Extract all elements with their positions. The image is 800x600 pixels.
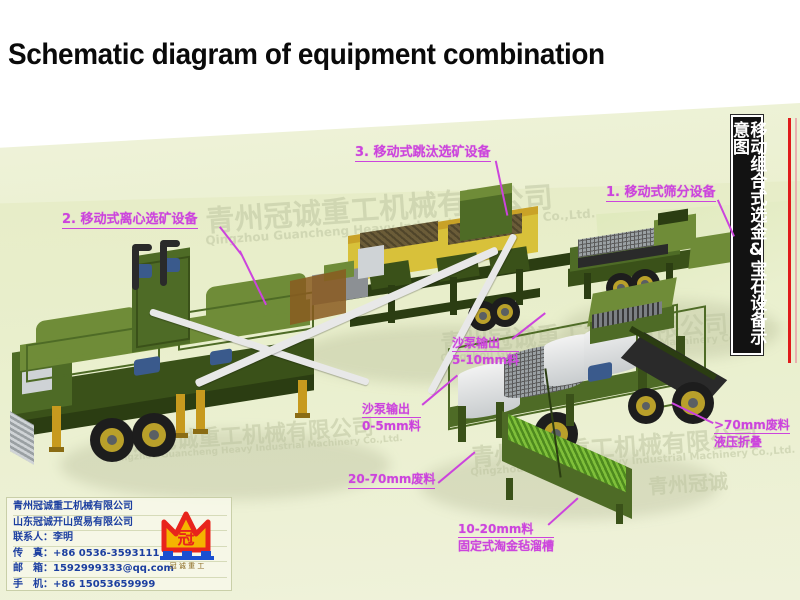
callout-sand-pump-0-5: 沙泵输出 0-5mm料	[362, 402, 421, 433]
banner-red-rule-secondary	[795, 118, 797, 363]
suction-hose-1	[132, 246, 139, 290]
wheel	[90, 418, 134, 462]
suction-hose-2	[160, 242, 167, 286]
wheel	[132, 413, 176, 457]
logo-subtext: 冠 诚 重 工	[170, 561, 205, 570]
callout-line-2: 液压折叠	[714, 434, 790, 449]
callout-line-2: 5-10mm料	[452, 352, 519, 367]
pump-skid-tank	[358, 245, 384, 279]
wheel	[672, 382, 714, 424]
svg-text:冠: 冠	[178, 529, 195, 549]
callout-sand-pump-5-10: 沙泵输出 5-10mm料	[452, 336, 519, 367]
banner-red-rule	[788, 118, 791, 363]
callout-line-1: 沙泵输出	[362, 402, 421, 418]
annotation-label-1: 1. 移动式筛分设备	[606, 181, 716, 202]
callout-sluice-10-20: 10-20mm料 固定式淘金毡溜槽	[458, 522, 554, 553]
trommel-support-leg	[566, 394, 574, 426]
unit-centrifugal-gold-unit	[10, 230, 340, 480]
trommel-support-leg	[458, 406, 466, 442]
page-title: Schematic diagram of equipment combinati…	[8, 38, 605, 72]
annotation-label-3: 3. 移动式跳汰选矿设备	[355, 141, 491, 162]
callout-waste-over-70: >70mm废料 液压折叠	[714, 418, 790, 449]
outrigger-leg	[298, 380, 307, 414]
hose-elbow-1	[132, 244, 152, 251]
callout-waste-20-70: 20-70mm废料	[348, 470, 435, 489]
sluice-support-leg	[616, 504, 623, 524]
callout-line-2: 0-5mm料	[362, 418, 421, 433]
outrigger-leg	[52, 406, 61, 448]
vertical-banner: 移动组合式选金&宝石设备示意图	[731, 115, 763, 355]
crown-logo-icon: 冠 冠 诚 重 工	[158, 506, 228, 572]
callout-line-1: >70mm废料	[714, 418, 790, 434]
wheel	[628, 388, 664, 424]
vertical-banner-text: 移动组合式选金&宝石设备示意图	[730, 121, 765, 353]
outrigger-leg	[196, 390, 205, 430]
unit-trommel-drum-unit	[440, 290, 770, 540]
outrigger-leg	[176, 394, 185, 434]
company-logo: 冠 冠 诚 重 工	[158, 506, 228, 572]
sluice-support-leg	[506, 478, 513, 500]
hose-elbow-2	[160, 240, 180, 247]
annotation-label-2: 2. 移动式离心选矿设备	[62, 208, 198, 229]
contact-mobile: 手 机：+86 15053659999	[13, 578, 227, 593]
callout-line-1: 10-20mm料	[458, 522, 554, 538]
callout-line-2: 固定式淘金毡溜槽	[458, 538, 554, 553]
schematic-canvas: 青州冠诚重工机械有限公司 Qingzhou Guancheng Heavy In…	[0, 0, 800, 600]
callout-line-1: 沙泵输出	[452, 336, 519, 352]
